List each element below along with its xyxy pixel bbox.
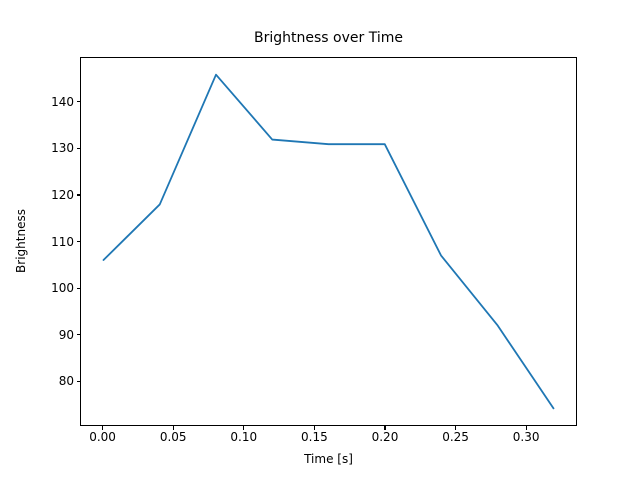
x-tick-mark [526, 426, 527, 430]
x-tick-mark [243, 426, 244, 430]
x-tick-mark [102, 426, 103, 430]
x-tick-mark [384, 426, 385, 430]
x-tick-label: 0.20 [372, 431, 399, 443]
y-tick-label: 140 [51, 96, 74, 108]
y-tick-label: 110 [51, 236, 74, 248]
x-axis-label: Time [s] [80, 452, 577, 466]
x-tick-label: 0.05 [160, 431, 187, 443]
plot-area [80, 57, 577, 426]
series-line-brightness [103, 75, 553, 409]
data-line-series [81, 58, 576, 425]
y-axis-label: Brightness [14, 191, 28, 291]
x-tick-mark [455, 426, 456, 430]
x-tick-mark [173, 426, 174, 430]
matplotlib-figure: Brightness over Time 8090100110120130140… [0, 0, 640, 480]
x-tick-label: 0.25 [442, 431, 469, 443]
y-tick-label: 100 [51, 282, 74, 294]
x-axis-tick-labels: 0.000.050.100.150.200.250.30 [0, 431, 640, 451]
x-tick-label: 0.30 [513, 431, 540, 443]
x-tick-mark [314, 426, 315, 430]
chart-title: Brightness over Time [80, 30, 577, 46]
y-axis-tick-labels: 8090100110120130140 [0, 0, 74, 480]
y-tick-label: 130 [51, 142, 74, 154]
x-tick-label: 0.10 [230, 431, 257, 443]
y-tick-label: 120 [51, 189, 74, 201]
y-tick-label: 90 [59, 329, 74, 341]
x-tick-label: 0.15 [301, 431, 328, 443]
x-tick-label: 0.00 [89, 431, 116, 443]
y-tick-label: 80 [59, 375, 74, 387]
